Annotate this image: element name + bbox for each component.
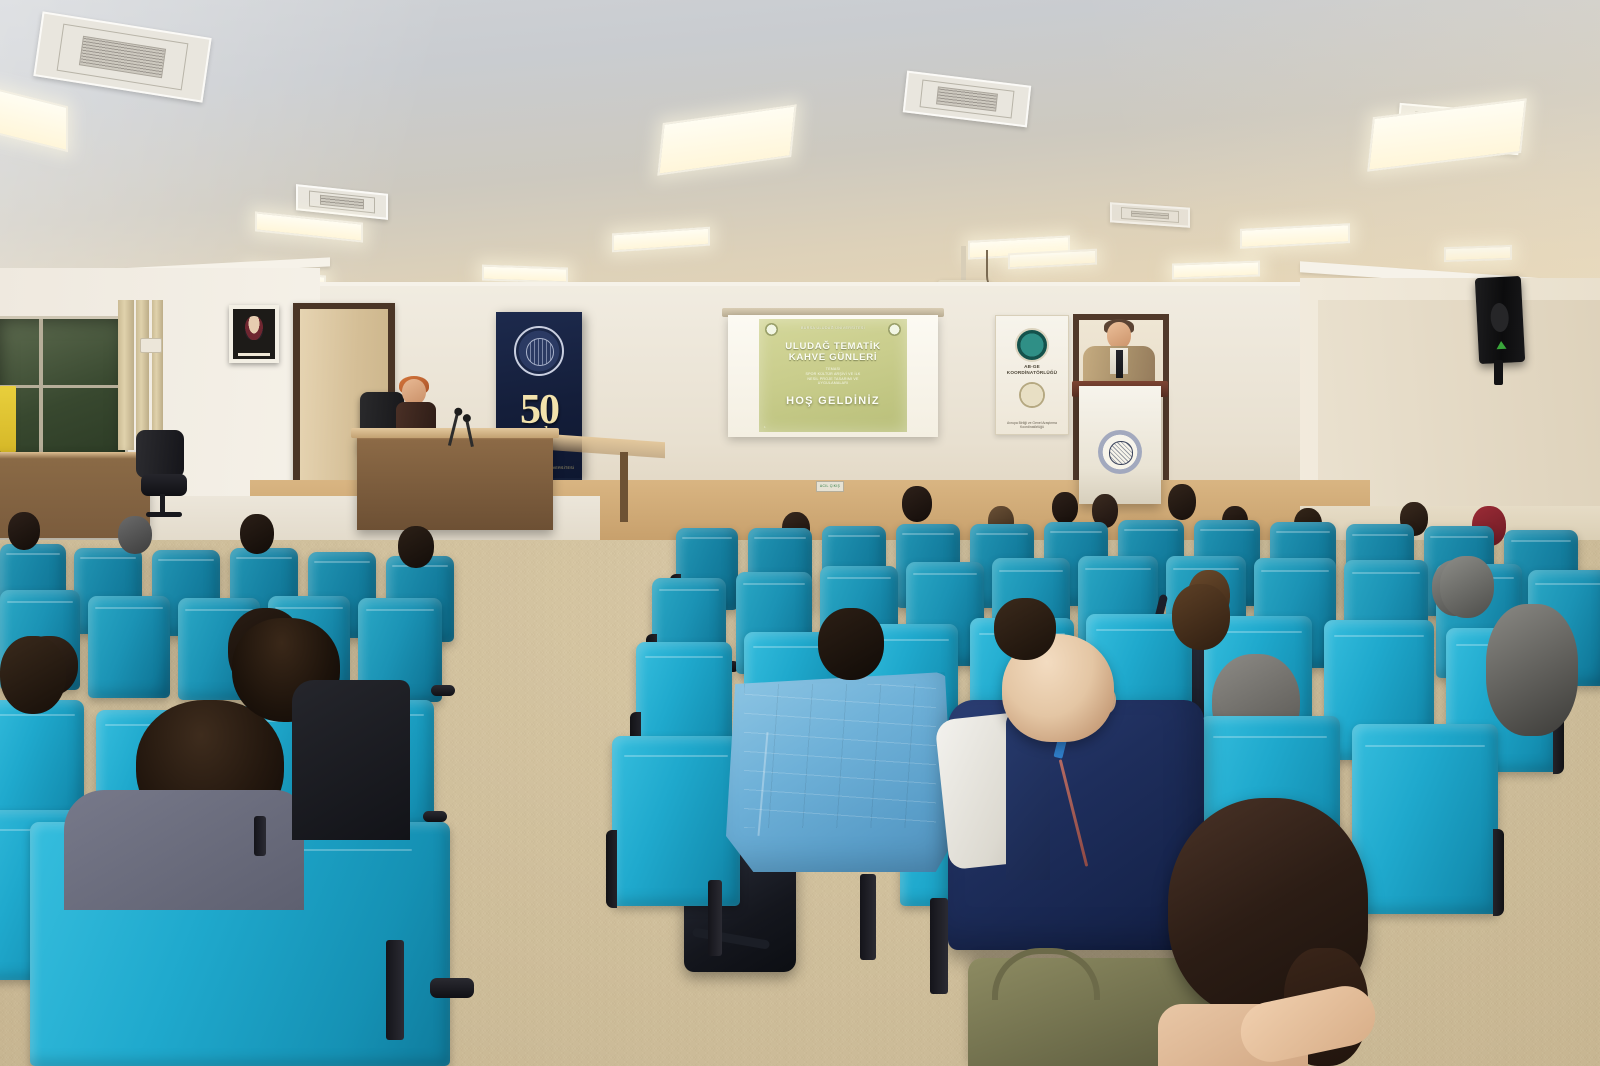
audience-person-torso — [292, 680, 410, 840]
curtain — [152, 300, 163, 446]
auditorium-seat[interactable] — [88, 596, 170, 698]
presenter-tie — [1116, 350, 1123, 378]
atatuerk-portrait — [229, 305, 279, 363]
audience-person — [1168, 484, 1196, 520]
ceiling-light-panel — [482, 264, 568, 283]
poster-seal-secondary-icon — [1019, 382, 1045, 408]
ceiling-light-panel — [1444, 245, 1512, 262]
audience-person — [818, 608, 884, 680]
loudspeaker-icon — [1475, 276, 1525, 364]
seat-leg-post — [254, 816, 266, 856]
audience-person — [8, 512, 40, 550]
projection-screen: BURSA ULUDAĞ ÜNİVERSİTESİ ULUDAĞ TEMATİK… — [728, 315, 938, 437]
slide-subtitle-line-3: UYGULAMALARI — [765, 381, 901, 386]
slide-logo-right-icon — [888, 323, 901, 336]
slide-header: BURSA ULUDAĞ ÜNİVERSİTESİ — [783, 326, 883, 331]
audience-person — [902, 486, 932, 522]
wall-socket — [140, 338, 162, 353]
draped-jacket — [726, 672, 954, 872]
auditorium-photo: AB-GE KOORDİNATÖRLÜĞÜ Avrupa Birliği ve … — [0, 0, 1600, 1066]
audience-person — [1052, 492, 1078, 524]
audience-person — [398, 526, 434, 568]
window — [0, 316, 128, 472]
seat-leg-post — [860, 874, 876, 960]
audience-person — [1486, 604, 1578, 736]
curtain — [136, 300, 149, 448]
presentation-slide: BURSA ULUDAĞ ÜNİVERSİTESİ ULUDAĞ TEMATİK… — [759, 319, 907, 432]
poster-footer: Avrupa Birliği ve Genel Araştırma Koordi… — [1001, 421, 1063, 430]
jacket-drawcord — [1059, 759, 1089, 866]
slide-welcome-text: HOŞ GELDİNİZ — [761, 395, 905, 407]
loudspeaker-bracket — [1494, 360, 1503, 385]
ab-ge-coordination-poster: AB-GE KOORDİNATÖRLÜĞÜ Avrupa Birliği ve … — [995, 315, 1069, 435]
audience-person — [994, 598, 1056, 660]
audience-person — [0, 636, 66, 714]
seat-leg-post — [386, 940, 404, 1040]
audience-person — [1172, 584, 1230, 650]
slide-title-line-1: ULUDAĞ TEMATİK — [761, 341, 905, 352]
audience-person — [118, 516, 152, 554]
curtain — [118, 300, 134, 450]
speaker-podium — [1079, 386, 1161, 504]
slide-page-number: 1 — [764, 425, 766, 429]
office-chair — [136, 430, 188, 522]
exit-sign: ACIL ÇIKIŞ — [816, 481, 844, 492]
banner-university-seal-icon — [514, 326, 564, 376]
moderator-table — [357, 434, 553, 530]
table-leg — [620, 452, 628, 522]
slide-title-line-2: KAHVE GÜNLERİ — [761, 352, 905, 363]
poster-seal-icon — [1015, 328, 1049, 362]
podium-emblem-icon — [1098, 430, 1142, 474]
flag — [0, 386, 16, 452]
audience-person-shoulders — [64, 790, 304, 910]
audience-person-foreground-right — [1168, 798, 1388, 1066]
audience-person — [240, 514, 274, 554]
presenter-head — [1107, 322, 1131, 349]
poster-line-2: KOORDİNATÖRLÜĞÜ — [996, 370, 1068, 376]
projector-mount-rod — [961, 246, 966, 280]
ceiling-light-panel — [1172, 260, 1260, 279]
seat-leg-post — [930, 898, 948, 994]
slide-logo-left-icon — [765, 323, 778, 336]
seat-leg-post — [708, 880, 722, 956]
